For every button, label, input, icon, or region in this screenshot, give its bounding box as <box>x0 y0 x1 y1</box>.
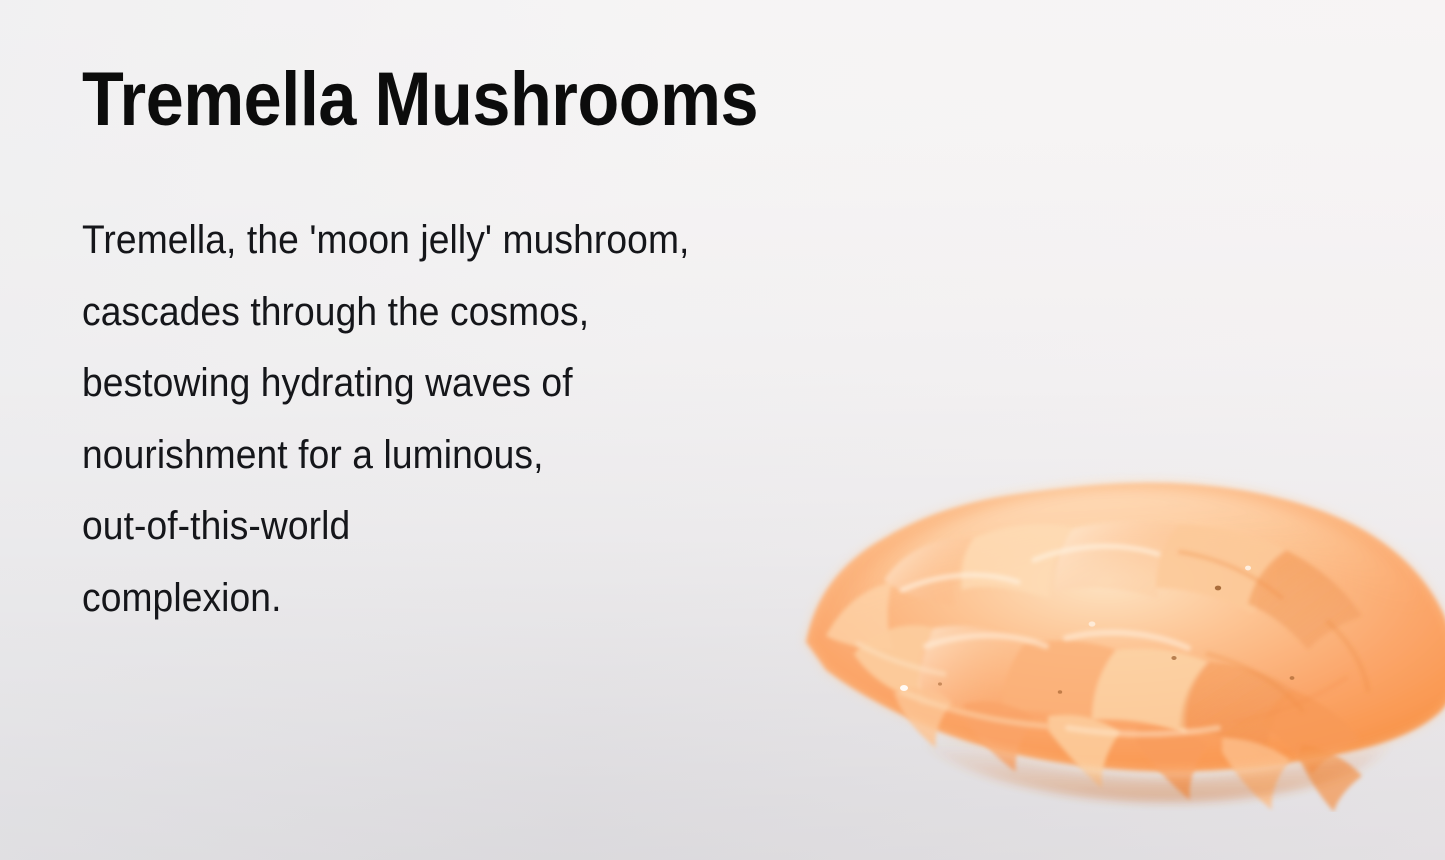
mushroom-ruffles-lower <box>894 688 1362 812</box>
page-title: Tremella Mushrooms <box>82 62 758 138</box>
mushroom-specks <box>938 586 1294 694</box>
mushroom-ruffles-middle <box>854 625 1360 774</box>
mushroom-underside-shadow <box>868 692 1402 802</box>
mushroom-silhouette <box>806 483 1445 772</box>
hero-banner: Tremella Mushrooms Tremella, the 'moon j… <box>0 0 1445 860</box>
description-line: cascades through the cosmos, <box>82 277 826 349</box>
mushroom-body <box>806 483 1445 812</box>
mushroom-ruffles-upper <box>826 521 1362 650</box>
mushroom-edge-feather <box>806 483 1445 772</box>
mushroom-frill-lines <box>858 546 1368 734</box>
description-line: bestowing hydrating waves of <box>82 348 826 420</box>
description-line: nourishment for a luminous, <box>82 420 826 492</box>
description-line: complexion. <box>82 563 826 635</box>
description-line: out-of-this-world <box>82 491 826 563</box>
mushroom-top-highlight <box>838 487 1444 636</box>
mushroom-specular-highlights <box>900 566 1251 691</box>
description-line: Tremella, the 'moon jelly' mushroom, <box>82 205 826 277</box>
hero-description: Tremella, the 'moon jelly' mushroom, cas… <box>82 205 826 634</box>
